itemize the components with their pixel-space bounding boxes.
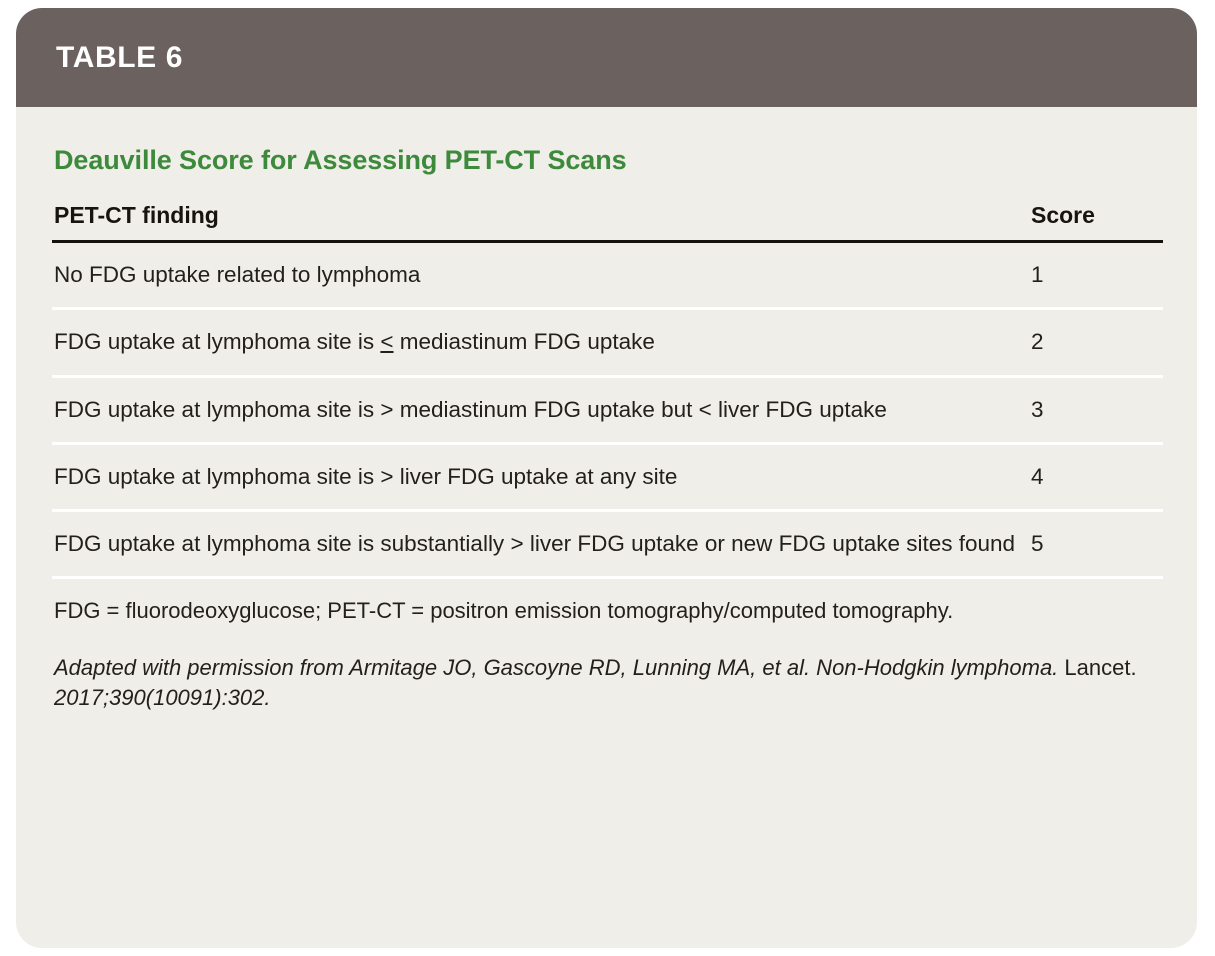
cell-score: 4 <box>1031 443 1163 510</box>
table-row: FDG uptake at lymphoma site is substanti… <box>52 511 1163 578</box>
table-number-label: TABLE 6 <box>56 41 183 75</box>
source-journal-name: Lancet. <box>1064 655 1136 680</box>
finding-text-pre: No FDG uptake related to lymphoma <box>54 262 420 287</box>
footnotes-section: FDG = fluorodeoxyglucose; PET-CT = posit… <box>16 579 1197 712</box>
cell-finding: FDG uptake at lymphoma site is > mediast… <box>52 376 1031 443</box>
cell-finding: No FDG uptake related to lymphoma <box>52 242 1031 309</box>
table-header-bar: TABLE 6 <box>16 8 1197 107</box>
table-header-row: PET-CT finding Score <box>52 202 1163 242</box>
finding-text-post: mediastinum FDG uptake <box>394 329 655 354</box>
source-citation-part2: 2017;390(10091):302. <box>54 685 271 710</box>
finding-text-pre: FDG uptake at lymphoma site is <box>54 329 380 354</box>
table-row: No FDG uptake related to lymphoma 1 <box>52 242 1163 309</box>
column-header-finding: PET-CT finding <box>52 202 1031 242</box>
finding-text-pre: FDG uptake at lymphoma site is substanti… <box>54 531 1015 556</box>
table-row: FDG uptake at lymphoma site is < mediast… <box>52 309 1163 376</box>
footnote-abbreviations: FDG = fluorodeoxyglucose; PET-CT = posit… <box>52 579 1169 625</box>
cell-score: 5 <box>1031 511 1163 578</box>
deauville-score-table: PET-CT finding Score No FDG uptake relat… <box>52 202 1163 579</box>
cell-finding: FDG uptake at lymphoma site is substanti… <box>52 511 1031 578</box>
cell-score: 2 <box>1031 309 1163 376</box>
table-row: FDG uptake at lymphoma site is > liver F… <box>52 443 1163 510</box>
table-body: Deauville Score for Assessing PET-CT Sca… <box>16 107 1197 579</box>
table-card: TABLE 6 Deauville Score for Assessing PE… <box>16 8 1197 948</box>
source-citation-part1: Adapted with permission from Armitage JO… <box>54 655 1058 680</box>
cell-finding: FDG uptake at lymphoma site is < mediast… <box>52 309 1031 376</box>
cell-finding: FDG uptake at lymphoma site is > liver F… <box>52 443 1031 510</box>
cell-score: 3 <box>1031 376 1163 443</box>
column-header-score: Score <box>1031 202 1163 242</box>
finding-text-pre: FDG uptake at lymphoma site is > liver F… <box>54 464 677 489</box>
table-row: FDG uptake at lymphoma site is > mediast… <box>52 376 1163 443</box>
footnote-source: Adapted with permission from Armitage JO… <box>52 625 1169 712</box>
less-than-or-equal-symbol: < <box>380 329 393 354</box>
cell-score: 1 <box>1031 242 1163 309</box>
table-title: Deauville Score for Assessing PET-CT Sca… <box>52 107 1161 176</box>
finding-text-pre: FDG uptake at lymphoma site is > mediast… <box>54 397 887 422</box>
